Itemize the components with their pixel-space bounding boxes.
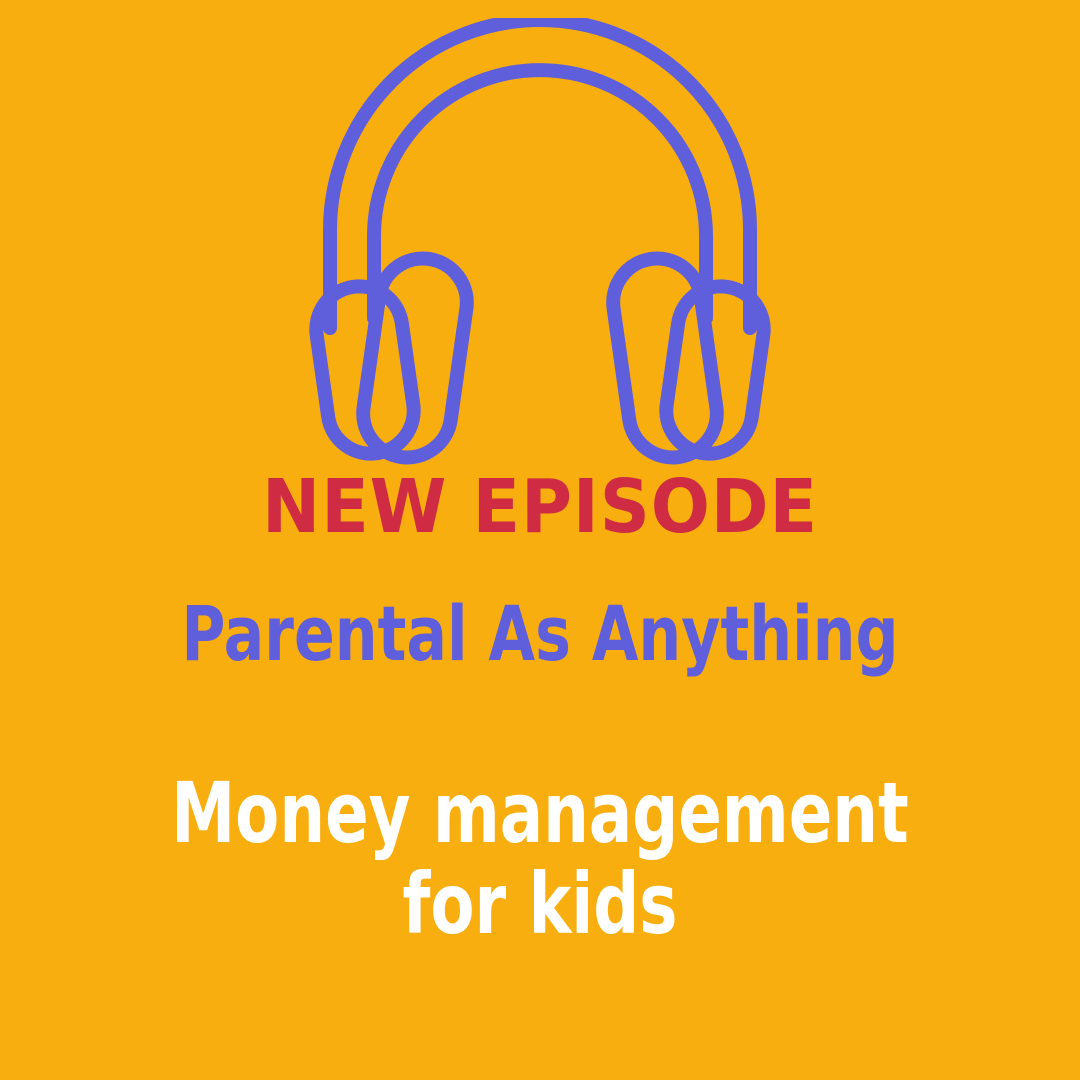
new-episode-kicker: NEW EPISODE (32, 470, 1047, 544)
show-name: Parental As Anything (65, 596, 1015, 672)
episode-title-line-1: Money management (81, 768, 999, 859)
headband-inner-arc (374, 70, 706, 318)
podcast-episode-poster: NEW EPISODE Parental As Anything Money m… (0, 0, 1080, 1080)
episode-title-line-2: for kids (81, 859, 999, 950)
poster-text-block: NEW EPISODE Parental As Anything Money m… (0, 470, 1080, 949)
episode-title: Money management for kids (81, 768, 999, 949)
headphones-icon (0, 18, 1080, 468)
